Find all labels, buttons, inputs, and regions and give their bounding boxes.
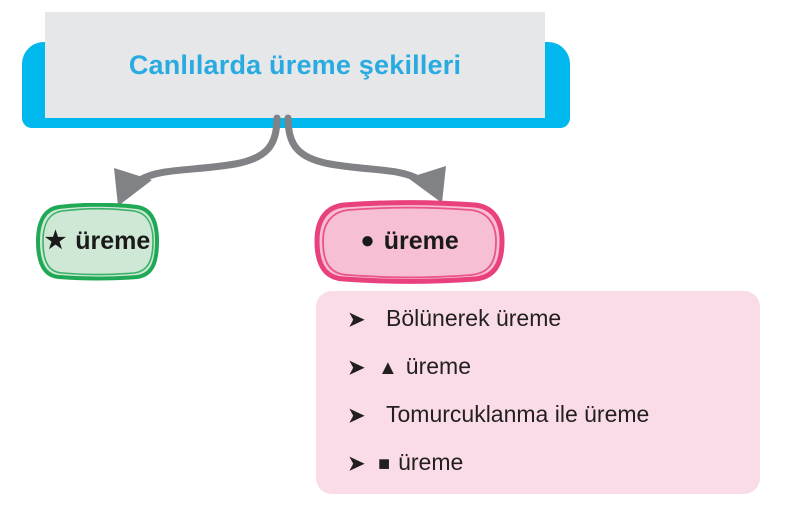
green-node-label: üreme — [75, 227, 150, 256]
arrow-to-pink-node — [288, 118, 446, 203]
arrow-to-green-node — [114, 118, 277, 206]
chevron-bullet-icon: ➤ — [348, 454, 378, 474]
node-pink-reproduction[interactable]: ● üreme — [312, 200, 507, 284]
filled-triangle-icon: ▲ — [378, 358, 398, 378]
diagram-canvas: Canlılarda üreme şekilleri ★ üreme — [0, 0, 788, 514]
list-item-label: Tomurcuklanma ile üreme — [386, 401, 649, 428]
chevron-bullet-icon: ➤ — [348, 310, 378, 330]
list-item[interactable]: ➤ ■ üreme — [348, 449, 760, 497]
list-item-label: üreme — [398, 449, 463, 476]
pink-node-content: ● üreme — [360, 227, 459, 258]
reproduction-types-list: ➤ Bölünerek üreme ➤ ▲ üreme ➤ Tomurcukla… — [316, 291, 760, 494]
list-item-label: üreme — [406, 353, 471, 380]
filled-square-icon: ■ — [378, 454, 390, 474]
filled-circle-icon: ● — [360, 229, 375, 253]
list-item[interactable]: ➤ ▲ üreme — [348, 353, 760, 401]
list-item-label: Bölünerek üreme — [386, 305, 561, 332]
node-green-reproduction[interactable]: ★ üreme — [35, 203, 160, 281]
page-title: Canlılarda üreme şekilleri — [45, 12, 545, 118]
pink-node-label: üreme — [384, 227, 459, 256]
list-item[interactable]: ➤ Tomurcuklanma ile üreme — [348, 401, 760, 449]
chevron-bullet-icon: ➤ — [348, 358, 378, 378]
green-node-content: ★ üreme — [45, 227, 151, 258]
chevron-bullet-icon: ➤ — [348, 406, 378, 426]
star-icon: ★ — [45, 229, 67, 253]
list-item[interactable]: ➤ Bölünerek üreme — [348, 305, 760, 353]
